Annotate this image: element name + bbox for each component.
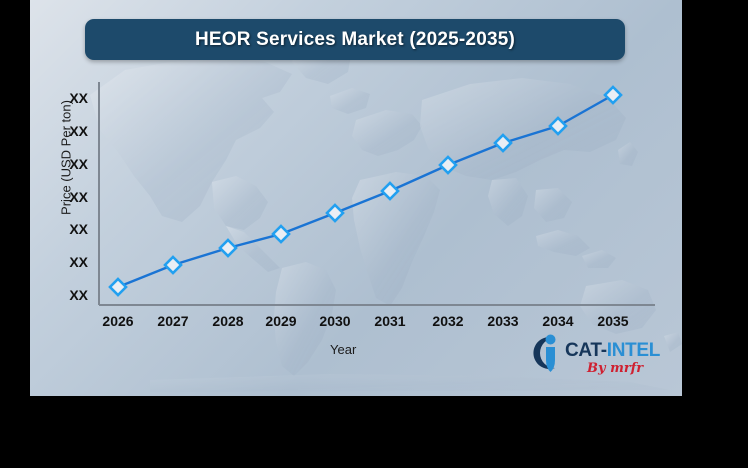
series-markers-price: [110, 87, 621, 295]
x-axis-tick-label: 2035: [589, 313, 637, 329]
data-point-marker[interactable]: [382, 183, 398, 199]
y-axis-tick-label: XX: [52, 123, 88, 139]
logo-mark-icon: [525, 332, 567, 374]
logo-text-intel: INTEL: [607, 340, 660, 361]
data-point-marker[interactable]: [220, 240, 236, 256]
data-point-marker[interactable]: [495, 135, 511, 151]
y-axis-tick-label: XX: [52, 156, 88, 172]
data-point-marker[interactable]: [165, 257, 181, 273]
logo-wordmark: CAT-INTEL: [565, 340, 660, 362]
x-axis-tick-label: 2034: [534, 313, 582, 329]
logo-text-cat: CAT-: [565, 340, 607, 361]
x-axis-title: Year: [330, 342, 356, 357]
x-axis-tick-label: 2032: [424, 313, 472, 329]
y-axis-tick-label: XX: [52, 254, 88, 270]
x-axis-tick-label: 2031: [366, 313, 414, 329]
x-axis-tick-label: 2029: [257, 313, 305, 329]
data-point-marker[interactable]: [440, 157, 456, 173]
data-point-marker[interactable]: [110, 279, 126, 295]
x-axis-tick-label: 2027: [149, 313, 197, 329]
y-axis-tick-label: XX: [52, 189, 88, 205]
data-point-marker[interactable]: [605, 87, 621, 103]
data-point-marker[interactable]: [327, 205, 343, 221]
data-point-marker[interactable]: [550, 118, 566, 134]
x-axis-tick-label: 2028: [204, 313, 252, 329]
series-line-price: [118, 95, 613, 287]
y-axis-tick-label: XX: [52, 90, 88, 106]
chart-card: HEOR Services Market (2025-2035) Price (…: [30, 0, 682, 396]
y-axis-tick-label: XX: [52, 287, 88, 303]
cat-intel-logo: CAT-INTEL By mrfr: [525, 330, 675, 386]
data-point-marker[interactable]: [273, 226, 289, 242]
x-axis-tick-label: 2026: [94, 313, 142, 329]
y-axis-tick-label: XX: [52, 221, 88, 237]
x-axis-tick-label: 2033: [479, 313, 527, 329]
x-axis-tick-label: 2030: [311, 313, 359, 329]
logo-tagline: By mrfr: [587, 361, 643, 376]
screenshot-root: HEOR Services Market (2025-2035) Price (…: [0, 0, 748, 468]
